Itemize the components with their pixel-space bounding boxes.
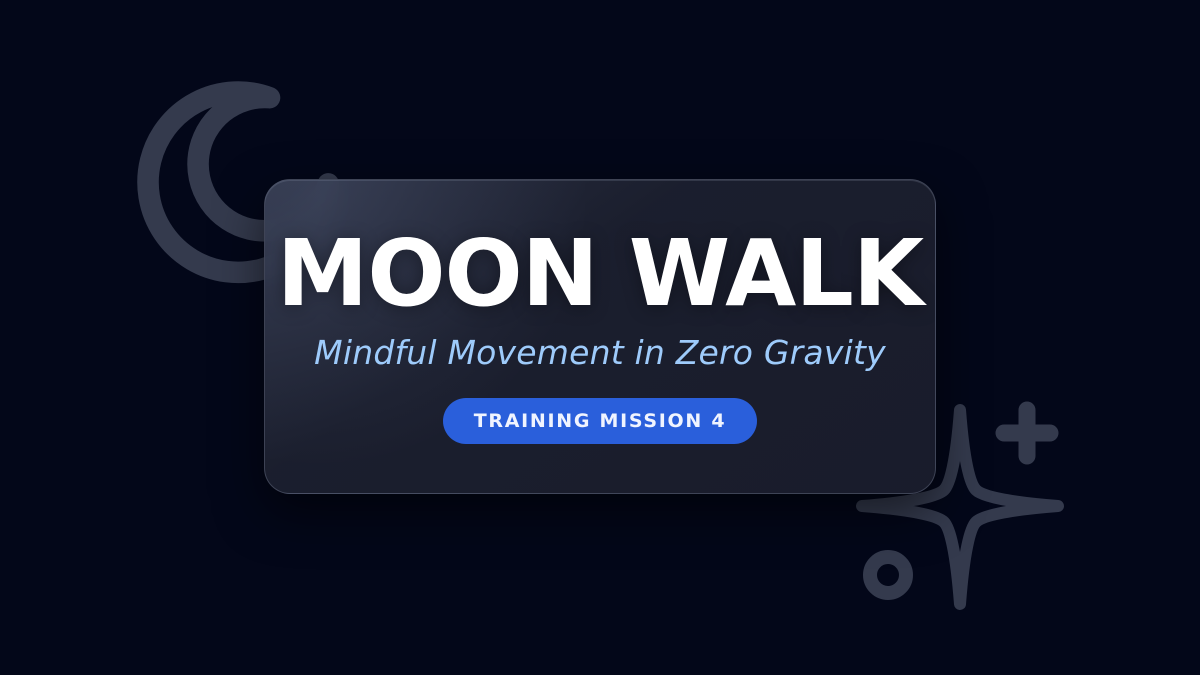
- page-subtitle: Mindful Movement in Zero Gravity: [314, 335, 886, 371]
- training-mission-badge[interactable]: TRAINING MISSION 4: [443, 398, 758, 444]
- plus-icon: [1004, 410, 1050, 456]
- page-title: MOON WALK: [277, 229, 923, 319]
- hero-card: MOON WALK Mindful Movement in Zero Gravi…: [264, 179, 936, 494]
- slide-canvas: MOON WALK Mindful Movement in Zero Gravi…: [0, 0, 1200, 675]
- ring-icon: [870, 557, 906, 593]
- hero-card-content: MOON WALK Mindful Movement in Zero Gravi…: [265, 229, 935, 444]
